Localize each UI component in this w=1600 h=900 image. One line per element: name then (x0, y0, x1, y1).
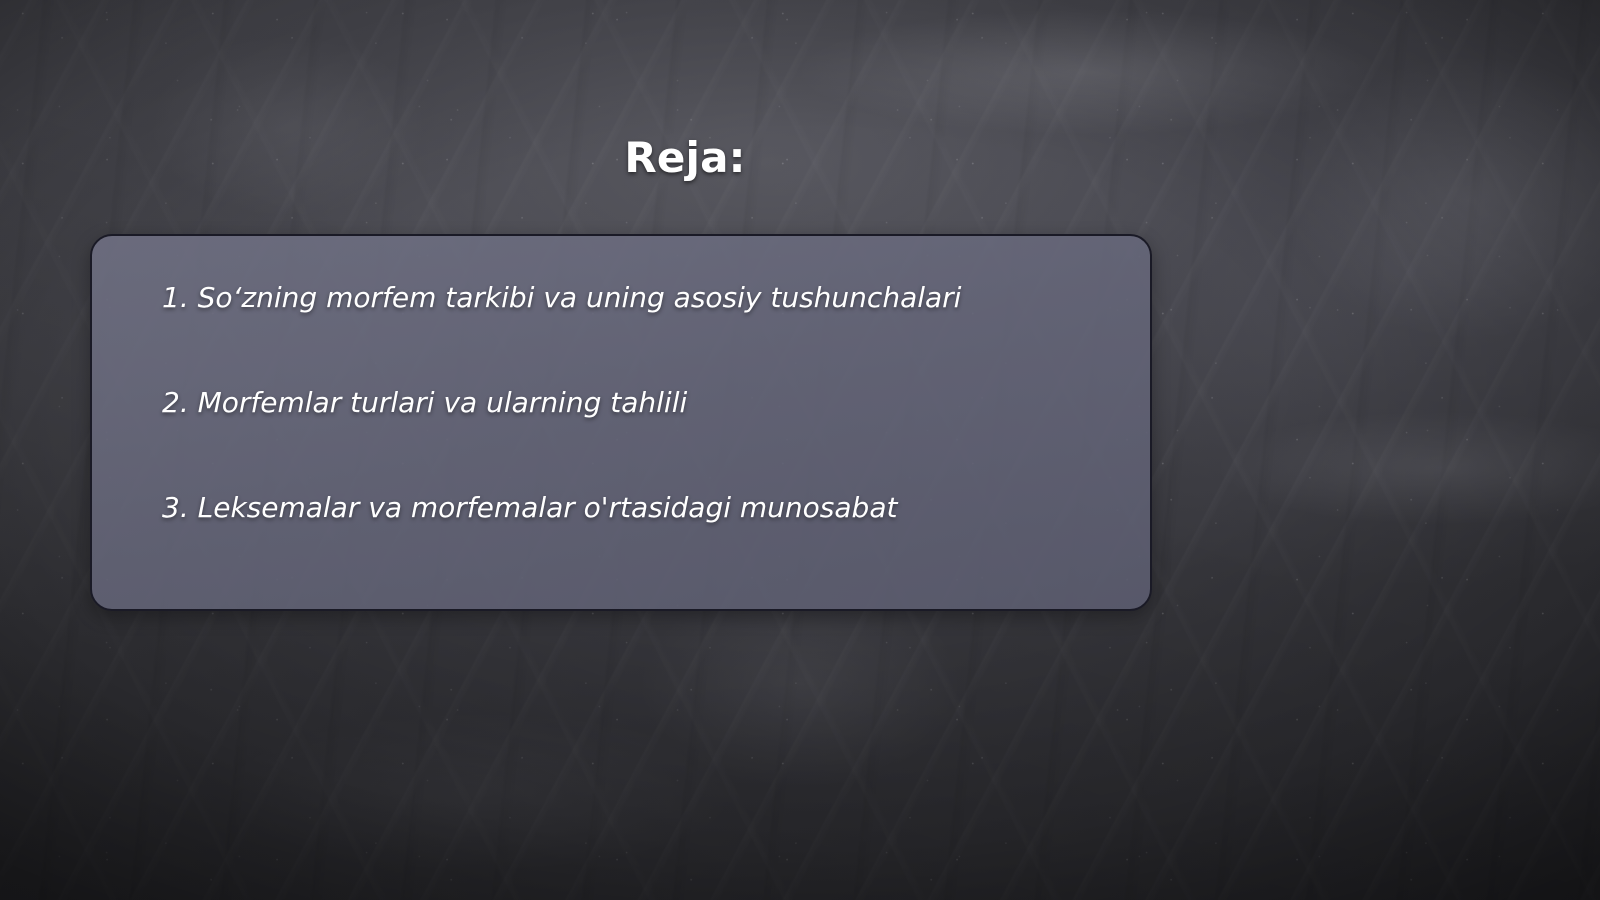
list-item: 2. Morfemlar turlari va ularning tahlili (162, 385, 1110, 420)
page-title: Reja: (0, 133, 1370, 182)
presentation-slide: Reja: 1. So‘zning morfem tarkibi va unin… (0, 0, 1600, 900)
slide-content: Reja: 1. So‘zning morfem tarkibi va unin… (0, 0, 1600, 900)
plan-list: 1. So‘zning morfem tarkibi va uning asos… (162, 280, 1110, 525)
plan-card: 1. So‘zning morfem tarkibi va uning asos… (90, 234, 1152, 611)
list-item: 1. So‘zning morfem tarkibi va uning asos… (162, 280, 1110, 315)
list-item: 3. Leksemalar va morfemalar o'rtasidagi … (162, 490, 1110, 525)
